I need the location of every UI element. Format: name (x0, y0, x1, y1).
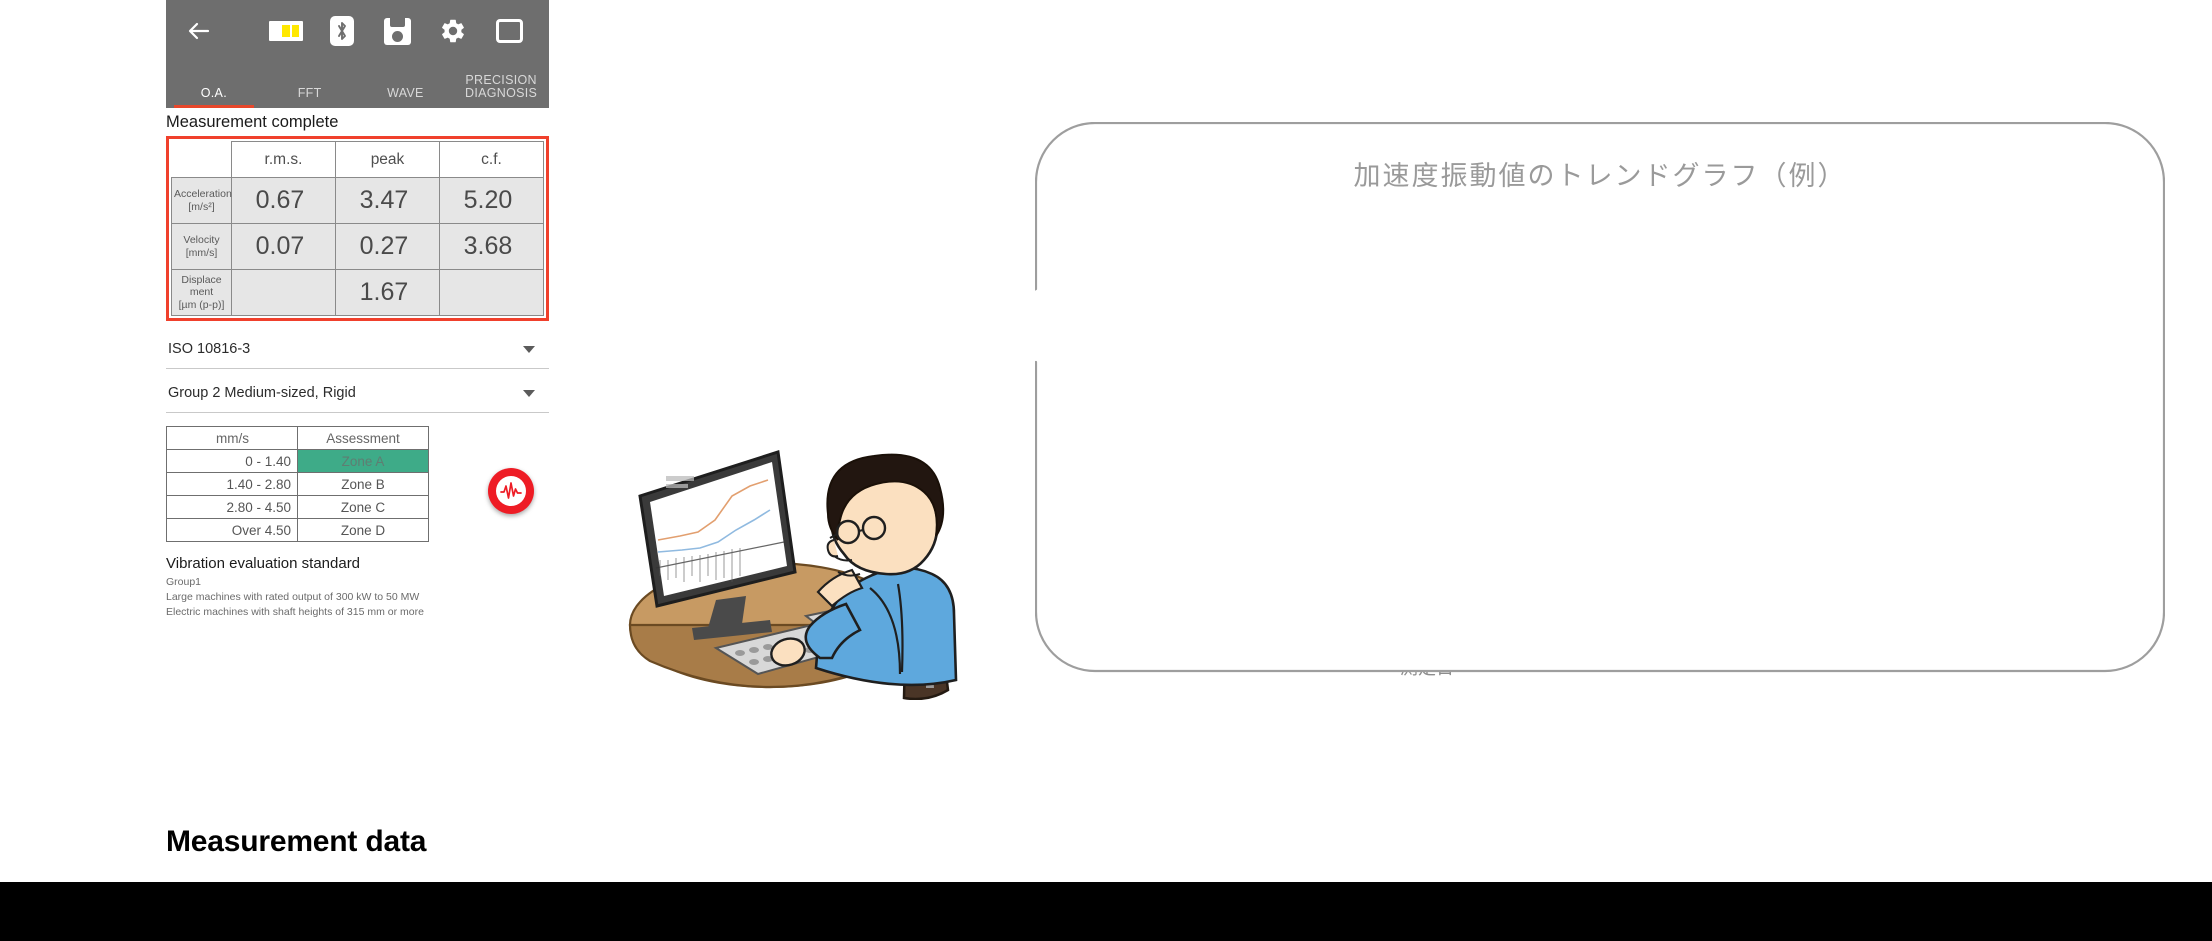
tab-fft[interactable]: FFT (262, 62, 358, 108)
battery-icon-slot (258, 21, 314, 41)
bottom-black-band (0, 882, 2212, 941)
column-header-assessment: Assessment (298, 427, 429, 450)
table-header-row: r.m.s. peak c.f. (172, 142, 544, 178)
tab-precision-diagnosis[interactable]: PRECISION DIAGNOSIS (453, 62, 549, 108)
table-row: Displace ment [µm (p-p)] 1.67 (172, 270, 544, 316)
cell-velocity-peak: 0.27 (336, 224, 440, 270)
chevron-down-icon (523, 390, 535, 397)
cell-displacement-cf (440, 270, 544, 316)
zone-label-b: Zone B (298, 473, 429, 496)
measurement-table-highlight: r.m.s. peak c.f. Acceleration [m/s²] 0.6… (166, 136, 549, 321)
tab-precision-diagnosis-label-line1: PRECISION (465, 74, 537, 87)
column-header-cf: c.f. (440, 142, 544, 178)
cell-velocity-cf: 3.68 (440, 224, 544, 270)
cell-acceleration-peak: 3.47 (336, 178, 440, 224)
cell-acceleration-rms: 0.67 (232, 178, 336, 224)
table-row: Velocity [mm/s] 0.07 0.27 3.68 (172, 224, 544, 270)
battery-cell-2 (282, 25, 289, 37)
zone-range-b: 1.40 - 2.80 (167, 473, 298, 496)
mobile-app-panel: O.A. FFT WAVE PRECISION DIAGNOSIS Measur… (166, 0, 549, 620)
zone-range-c: 2.80 - 4.50 (167, 496, 298, 519)
chevron-down-icon (523, 346, 535, 353)
battery-cell-1 (273, 25, 280, 37)
row-label-velocity-line1: Velocity (174, 234, 229, 246)
zone-label-d: Zone D (298, 519, 429, 542)
battery-icon (269, 21, 303, 41)
table-row: 2.80 - 4.50 Zone C (167, 496, 429, 519)
back-arrow-icon[interactable] (186, 18, 212, 44)
standard-line2: Electric machines with shaft heights of … (166, 605, 549, 620)
stop-square-icon[interactable] (496, 19, 523, 43)
measurement-table: r.m.s. peak c.f. Acceleration [m/s²] 0.6… (171, 141, 544, 316)
bluetooth-icon-slot[interactable] (314, 16, 370, 46)
standard-line1: Large machines with rated output of 300 … (166, 590, 549, 605)
page-title: Measurement data (166, 825, 426, 859)
save-icon[interactable] (384, 18, 411, 45)
column-header-peak: peak (336, 142, 440, 178)
waveform-icon (496, 476, 526, 506)
standard-dropdown[interactable]: ISO 10816-3 (166, 329, 549, 369)
chart-title: 加速度振動値のトレンドグラフ（例） (1035, 154, 2165, 193)
tab-oa[interactable]: O.A. (166, 62, 262, 108)
row-label-displacement: Displace ment [µm (p-p)] (172, 270, 232, 316)
standard-title: Vibration evaluation standard (166, 555, 549, 572)
cell-displacement-peak: 1.67 (336, 270, 440, 316)
tab-precision-diagnosis-label-line2: DIAGNOSIS (465, 87, 537, 100)
bluetooth-icon[interactable] (330, 16, 354, 46)
chart-speech-bubble: 加速度振動値のトレンドグラフ（例） 0246810121416振動値, m/s2… (1035, 122, 2165, 704)
toolbar-icon-row (166, 0, 549, 62)
battery-cell-3 (292, 25, 299, 37)
cell-acceleration-cf: 5.20 (440, 178, 544, 224)
row-label-displacement-line3: [µm (p-p)] (174, 299, 229, 311)
row-label-displacement-line2: ment (174, 286, 229, 298)
zone-label-a: Zone A (298, 450, 429, 473)
tab-bar: O.A. FFT WAVE PRECISION DIAGNOSIS (166, 62, 549, 108)
stop-icon-slot[interactable] (481, 19, 537, 43)
app-toolbar: O.A. FFT WAVE PRECISION DIAGNOSIS (166, 0, 549, 108)
row-label-velocity: Velocity [mm/s] (172, 224, 232, 270)
cell-velocity-rms: 0.07 (232, 224, 336, 270)
zone-label-c: Zone C (298, 496, 429, 519)
row-label-acceleration-line2: [m/s²] (174, 201, 229, 213)
table-corner-cell (172, 142, 232, 178)
person-at-computer-illustration (620, 400, 980, 700)
gear-icon[interactable] (439, 17, 467, 45)
group-dropdown[interactable]: Group 2 Medium-sized, Rigid (166, 373, 549, 413)
cell-displacement-rms (232, 270, 336, 316)
column-header-rms: r.m.s. (232, 142, 336, 178)
column-header-mms: mm/s (167, 427, 298, 450)
row-label-acceleration-line1: Acceleration (174, 188, 229, 200)
table-header-row: mm/s Assessment (167, 427, 429, 450)
group-dropdown-value: Group 2 Medium-sized, Rigid (168, 385, 356, 401)
row-label-acceleration: Acceleration [m/s²] (172, 178, 232, 224)
settings-icon-slot[interactable] (425, 17, 481, 45)
row-label-displacement-line1: Displace (174, 274, 229, 286)
status-text: Measurement complete (166, 108, 549, 136)
zone-assessment-table: mm/s Assessment 0 - 1.40 Zone A 1.40 - 2… (166, 426, 429, 542)
zone-range-d: Over 4.50 (167, 519, 298, 542)
measure-fab-button[interactable] (488, 468, 534, 514)
tab-wave-label: WAVE (387, 87, 424, 100)
save-icon-slot[interactable] (370, 18, 426, 45)
tab-oa-label: O.A. (201, 87, 227, 100)
standard-dropdown-value: ISO 10816-3 (168, 341, 250, 357)
zone-range-a: 0 - 1.40 (167, 450, 298, 473)
table-row: Acceleration [m/s²] 0.67 3.47 5.20 (172, 178, 544, 224)
table-row: 1.40 - 2.80 Zone B (167, 473, 429, 496)
tab-fft-label: FFT (298, 87, 322, 100)
tab-wave[interactable]: WAVE (358, 62, 454, 108)
speech-bubble-outline (1035, 122, 2165, 704)
standard-group: Group1 (166, 575, 549, 590)
table-row: 0 - 1.40 Zone A (167, 450, 429, 473)
row-label-velocity-line2: [mm/s] (174, 247, 229, 259)
table-row: Over 4.50 Zone D (167, 519, 429, 542)
